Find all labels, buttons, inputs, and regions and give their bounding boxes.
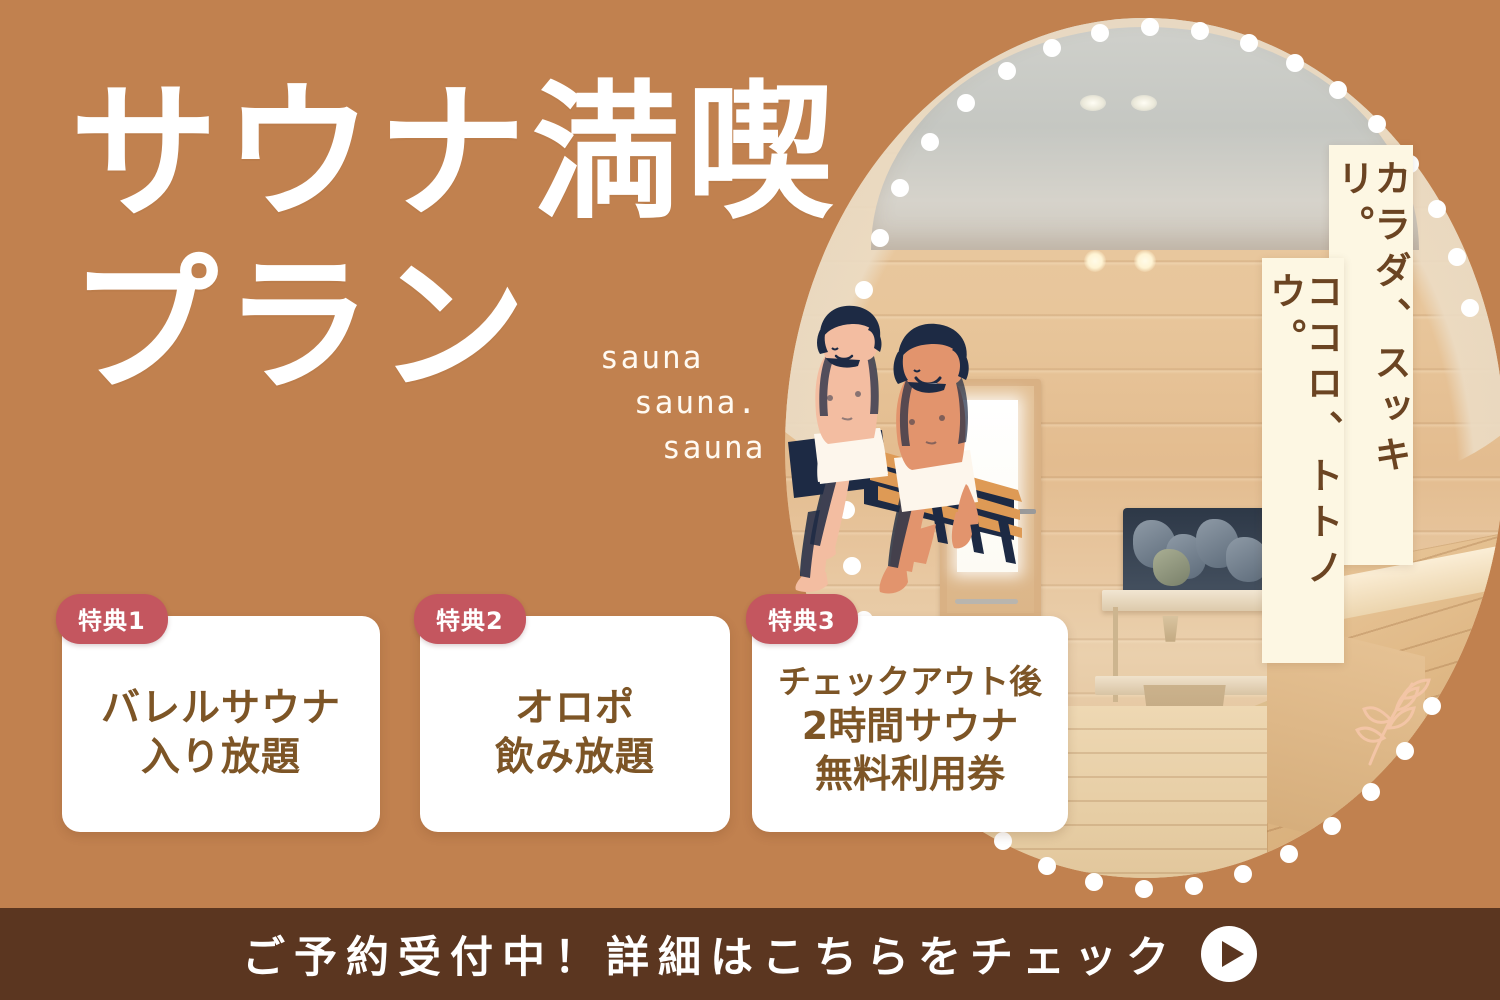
benefit-card-2-body: オロポ 飲み放題 <box>420 616 730 832</box>
romaji-line-3: sauna <box>600 426 765 471</box>
benefit-card-3[interactable]: 特典3 チェックアウト後 2時間サウナ 無料利用券 <box>752 616 1068 832</box>
benefit-card-2-line-1: オロポ <box>515 684 635 733</box>
benefit-card-1[interactable]: 特典1 バレルサウナ 入り放題 <box>62 616 380 832</box>
benefit-card-3-line-2: 2時間サウナ <box>802 703 1018 751</box>
cta-text: ご予約受付中！詳細はこちらをチェック <box>242 923 1178 985</box>
benefit-card-2-line-2: 飲み放題 <box>495 733 655 782</box>
cta-bar[interactable]: ご予約受付中！詳細はこちらをチェック <box>0 908 1500 1000</box>
play-arrow-circle-icon[interactable] <box>1200 925 1258 983</box>
title-line-1: サウナ満喫 <box>70 78 840 229</box>
benefit-card-3-line-1: チェックアウト後 <box>778 661 1042 703</box>
benefit-card-1-line-2: 入り放題 <box>141 733 301 782</box>
person-right <box>879 324 978 594</box>
vertical-catchphrase-text-1: カラダ、スッキリ。 <box>1334 159 1408 565</box>
romaji-subtitle: sauna sauna. sauna <box>600 336 765 471</box>
benefit-card-3-line-3: 無料利用券 <box>815 751 1005 799</box>
downlight-icon <box>1084 250 1106 272</box>
vertical-catchphrase-text-2: ココロ、トトノウ。 <box>1266 272 1340 663</box>
benefit-card-2[interactable]: 特典2 オロポ 飲み放題 <box>420 616 730 832</box>
vertical-catchphrase-panel-2: ココロ、トトノウ。 <box>1262 258 1344 663</box>
romaji-line-1: sauna <box>600 336 765 381</box>
benefit-card-1-body: バレルサウナ 入り放題 <box>62 616 380 832</box>
leaf-branch-icon <box>1350 660 1440 770</box>
sauna-plan-banner: サウナ満喫 プラン sauna sauna. sauna カラダ、スッキリ。 コ… <box>0 0 1500 1000</box>
benefit-card-1-line-1: バレルサウナ <box>101 684 341 733</box>
romaji-line-2: sauna. <box>600 381 765 426</box>
benefit-card-3-body: チェックアウト後 2時間サウナ 無料利用券 <box>752 616 1068 832</box>
